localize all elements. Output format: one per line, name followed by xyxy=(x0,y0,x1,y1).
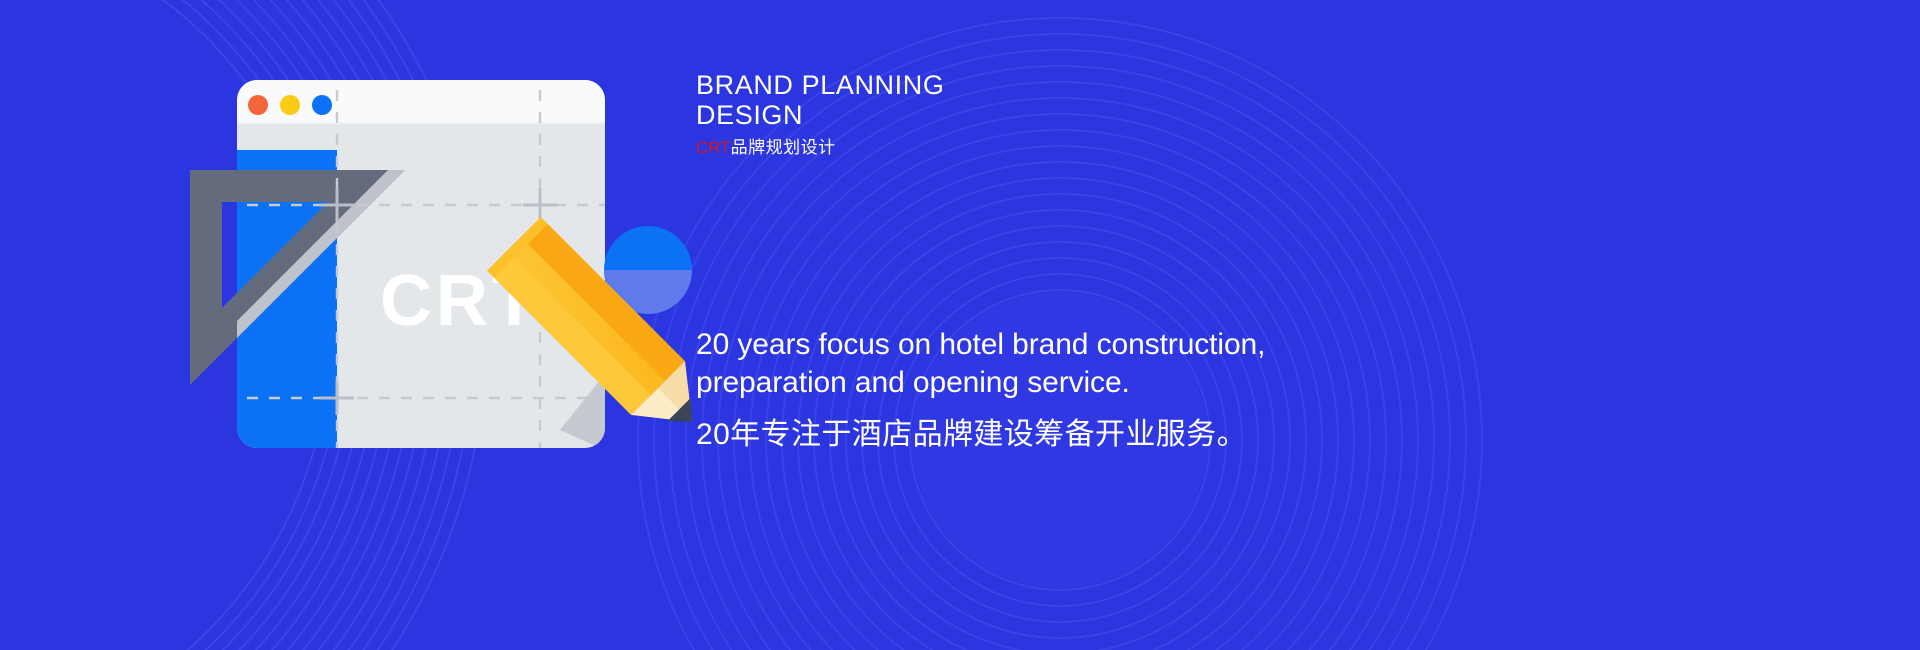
heading-chinese-text: 品牌规划设计 xyxy=(731,138,836,157)
window-dots xyxy=(248,95,332,115)
tagline-chinese: 20年专注于酒店品牌建设筹备开业服务。 xyxy=(696,416,1456,454)
tagline-group: 20 years focus on hotel brand constructi… xyxy=(696,326,1456,454)
browser-card: CRT xyxy=(190,80,672,448)
dot-yellow-icon xyxy=(280,95,300,115)
tagline-english: 20 years focus on hotel brand constructi… xyxy=(696,326,1456,402)
banner-root: CRT xyxy=(0,0,1920,650)
heading-chinese: CRT品牌规划设计 xyxy=(696,137,1396,159)
heading-english: BRAND PLANNING DESIGN xyxy=(696,70,1396,130)
text-content: BRAND PLANNING DESIGN CRT品牌规划设计 20 years… xyxy=(696,0,1796,650)
brand-mark-crt: CRT xyxy=(696,138,731,157)
heading-group: BRAND PLANNING DESIGN CRT品牌规划设计 xyxy=(696,70,1396,159)
dot-blue-icon xyxy=(312,95,332,115)
dot-red-icon xyxy=(248,95,268,115)
